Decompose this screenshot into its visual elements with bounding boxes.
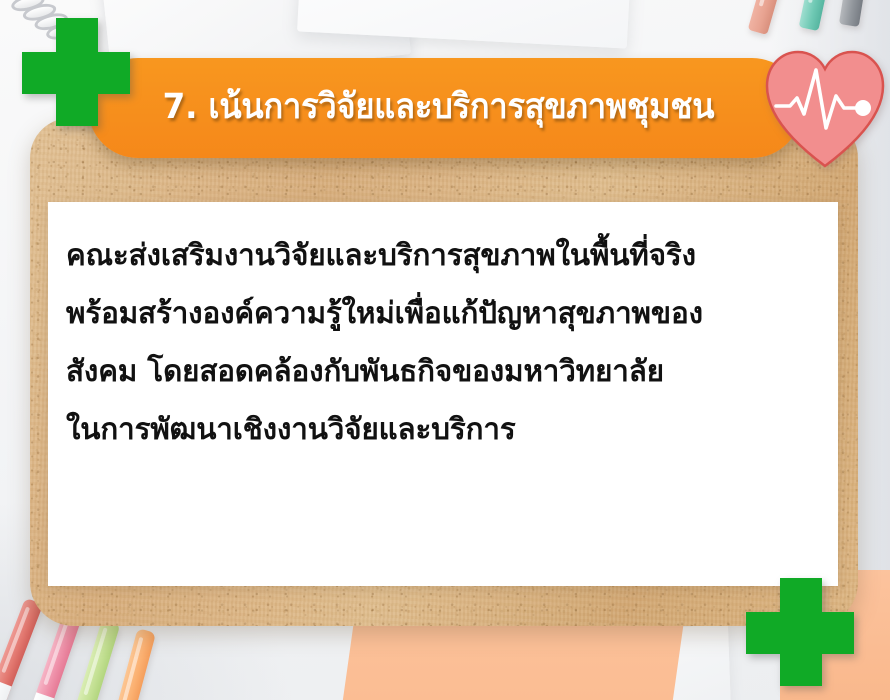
body-line-3: สังคม โดยสอดคล้องกับพันธกิจของมหาวิทยาลั… <box>66 342 812 400</box>
body-line-1: คณะส่งเสริมงานวิจัยและบริการสุขภาพในพื้น… <box>66 226 812 284</box>
body-text-block: คณะส่งเสริมงานวิจัยและบริการสุขภาพในพื้น… <box>48 202 838 458</box>
body-line-4: ในการพัฒนาเชิงงานวิจัยและบริการ <box>66 400 812 458</box>
content-card: คณะส่งเสริมงานวิจัยและบริการสุขภาพในพื้น… <box>48 202 838 586</box>
green-cross-top-left-icon <box>22 18 130 126</box>
page-title: 7. เน้นการวิจัยและบริการสุขภาพชุมชน <box>113 88 777 127</box>
green-cross-bottom-right-icon <box>746 578 854 686</box>
slide-canvas: คณะส่งเสริมงานวิจัยและบริการสุขภาพในพื้น… <box>0 0 890 700</box>
heart-heartbeat-icon <box>764 48 886 172</box>
title-banner: 7. เน้นการวิจัยและบริการสุขภาพชุมชน <box>88 58 802 158</box>
body-line-2: พร้อมสร้างองค์ความรู้ใหม่เพื่อแก้ปัญหาสุ… <box>66 284 812 342</box>
